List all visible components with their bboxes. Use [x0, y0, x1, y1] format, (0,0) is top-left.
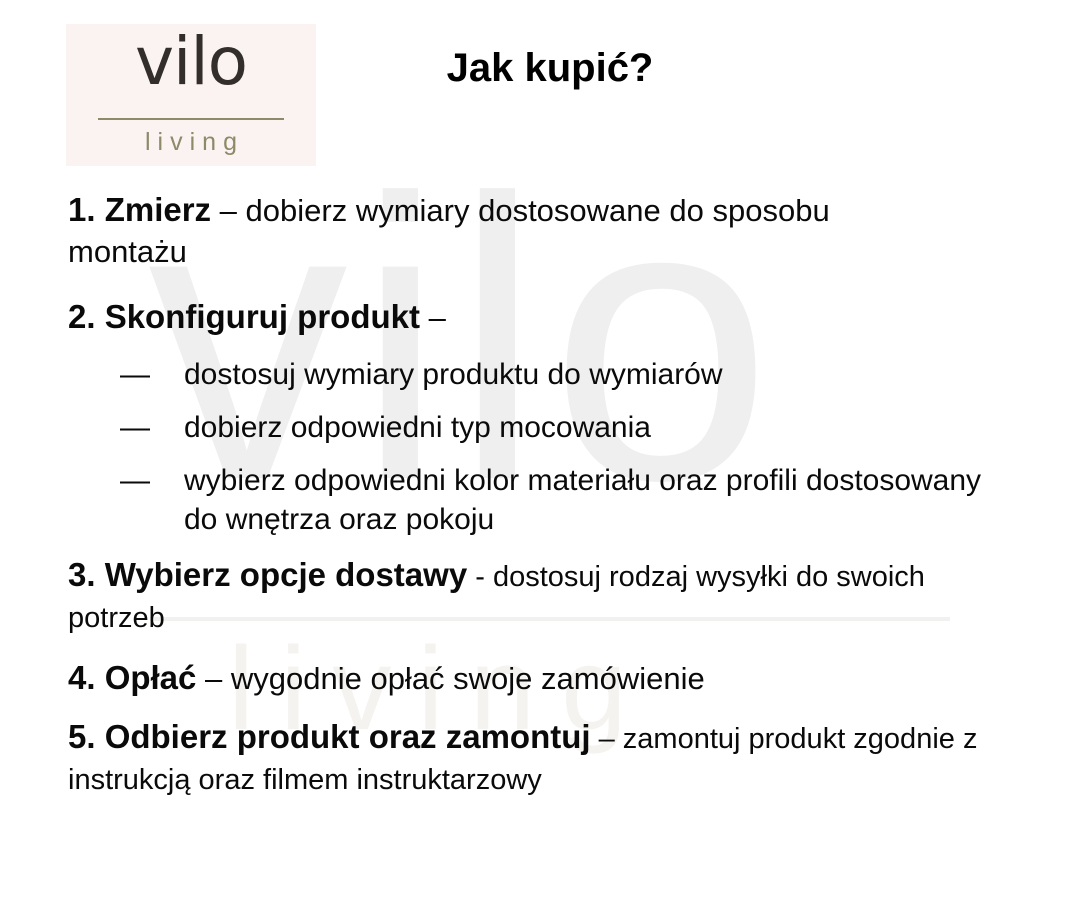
- slide-page: vilo living vilo living Jak kupić? 1. Zm…: [0, 0, 1080, 906]
- logo-divider-rule: [98, 118, 284, 120]
- em-dash-icon: —: [120, 461, 170, 500]
- step-1-lead: 1. Zmierz: [68, 191, 211, 228]
- em-dash-icon: —: [120, 408, 170, 447]
- step-4-lead: 4. Opłać: [68, 659, 196, 696]
- sub-item-3: —wybierz odpowiedni kolor materiału oraz…: [68, 461, 1008, 539]
- step-5-lead: 5. Odbierz produkt oraz zamontuj: [68, 718, 591, 755]
- em-dash-icon: —: [120, 355, 170, 394]
- step-2-lead: 2. Skonfiguruj produkt: [68, 298, 420, 335]
- logo-tagline: living: [66, 128, 316, 157]
- step-item-4: 4. Opłać – wygodnie opłać swoje zamówien…: [68, 656, 1008, 700]
- step-item-5: 5. Odbierz produkt oraz zamontuj – zamon…: [68, 715, 998, 800]
- sub-item-1: —dostosuj wymiary produktu do wymiarów: [68, 355, 1008, 394]
- step-item-3: 3. Wybierz opcje dostawy - dostosuj rodz…: [68, 553, 948, 638]
- sub-item-2: —dobierz odpowiedni typ mocowania: [68, 408, 1008, 447]
- sub-item-2-label: dobierz odpowiedni typ mocowania: [184, 411, 651, 444]
- sub-item-1-label: dostosuj wymiary produktu do wymiarów: [184, 358, 723, 391]
- step-4-rest: – wygodnie opłać swoje zamówienie: [196, 661, 704, 696]
- step-item-2: 2. Skonfiguruj produkt –: [68, 295, 1008, 339]
- step-2-rest: –: [420, 300, 446, 335]
- logo-wordmark: vilo: [66, 26, 316, 97]
- sub-item-3-label: wybierz odpowiedni kolor materiału oraz …: [184, 464, 981, 536]
- step-2-sublist: —dostosuj wymiary produktu do wymiarów —…: [68, 355, 1008, 539]
- page-title: Jak kupić?: [380, 46, 720, 91]
- steps-list: 1. Zmierz – dobierz wymiary dostosowane …: [68, 188, 1008, 800]
- step-item-1: 1. Zmierz – dobierz wymiary dostosowane …: [68, 188, 898, 273]
- vilo-logo: vilo living: [66, 24, 316, 166]
- step-3-lead: 3. Wybierz opcje dostawy: [68, 556, 467, 593]
